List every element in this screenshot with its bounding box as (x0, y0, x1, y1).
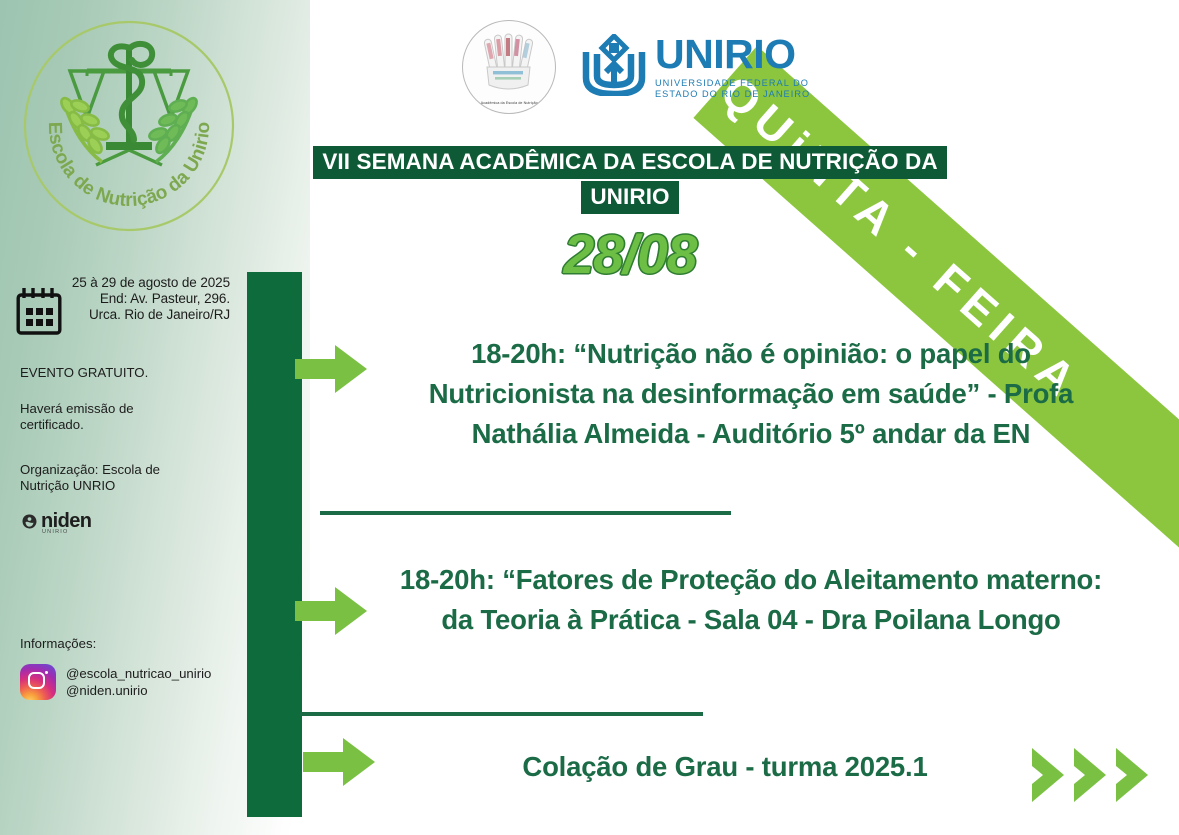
weekday-ribbon: QUiNTA - FEIRA (693, 46, 1179, 568)
session-text-2: 18-20h: “Fatores de Proteção do Aleitame… (386, 560, 1116, 640)
instagram-icon[interactable] (20, 664, 56, 700)
free-event-note: EVENTO GRATUITO. (20, 365, 148, 381)
chevron-group (1028, 744, 1152, 811)
session-divider-2 (300, 712, 703, 716)
poster-title-line-1: VII SEMANA ACADÊMICA DA ESCOLA DE NUTRIÇ… (313, 146, 946, 179)
arrow-right-icon (295, 343, 367, 395)
chevron-right-icon (1112, 744, 1152, 811)
calendar-icon (15, 286, 63, 336)
event-date-address: 25 à 29 de agosto de 2025 End: Av. Paste… (70, 275, 230, 323)
event-address-line-2: Urca. Rio de Janeiro/RJ (70, 307, 230, 323)
niden-logo: niden (21, 512, 91, 530)
niden-sub-label: UNIRIO (42, 529, 68, 535)
unirio-logo: UNIRIO UNIVERSIDADE FEDERAL DO ESTADO DO… (582, 34, 810, 101)
event-address-line-1: End: Av. Pasteur, 296. (70, 291, 230, 307)
event-day-headline: 28/08 (300, 222, 960, 286)
unirio-tagline-line-1: UNIVERSIDADE FEDERAL DO (655, 78, 810, 89)
info-label: Informações: (20, 636, 96, 651)
event-poster: Escola de Nutrição da Unirio (0, 0, 1179, 835)
certificate-note: Haverá emissão de certificado. (20, 401, 190, 433)
header-logos: Semana Acadêmica da Escola de Nutrição U… (462, 20, 810, 114)
niden-logo-icon (21, 513, 38, 530)
organization-note: Organização: Escola de Nutrição UNRIO (20, 462, 195, 494)
session-text-3: Colação de Grau - turma 2025.1 (400, 749, 1050, 785)
unirio-name: UNIRIO (655, 34, 810, 75)
arrow-right-icon (295, 585, 367, 637)
weekday-ribbon-label: QUiNTA - FEIRA (710, 64, 1179, 550)
niden-wordmark: niden (41, 512, 91, 530)
session-text-1: 18-20h: “Nutrição não é opinião: o papel… (386, 334, 1116, 454)
vertical-accent-bar (247, 272, 302, 817)
instagram-handle-niden[interactable]: @niden.unirio (66, 682, 211, 699)
chevron-right-icon (1028, 744, 1068, 811)
school-seal-icon: Escola de Nutrição da Unirio (18, 10, 240, 242)
poster-title-line-2: UNIRIO (581, 181, 678, 214)
instagram-handle-escola[interactable]: @escola_nutricao_unirio (66, 665, 211, 682)
poster-title: VII SEMANA ACADÊMICA DA ESCOLA DE NUTRIÇ… (300, 146, 960, 214)
event-date-line: 25 à 29 de agosto de 2025 (70, 275, 230, 291)
unirio-tagline-line-2: ESTADO DO RIO DE JANEIRO (655, 89, 810, 100)
semana-academica-seal-icon: Semana Acadêmica da Escola de Nutrição U… (462, 20, 556, 114)
semana-academica-caption: Semana Acadêmica da Escola de Nutrição U… (463, 101, 555, 105)
unirio-mark-icon (582, 34, 646, 101)
arrow-right-icon (303, 736, 375, 788)
chevron-right-icon (1070, 744, 1110, 811)
instagram-contact[interactable]: @escola_nutricao_unirio @niden.unirio (20, 664, 211, 700)
session-divider-1 (320, 511, 731, 515)
